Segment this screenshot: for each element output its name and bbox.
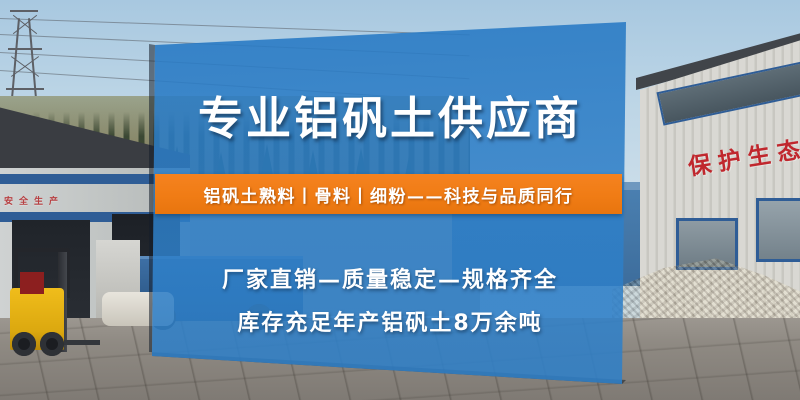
ribbon-text: 铝矾土熟料丨骨料丨细粉——科技与品质同行 — [204, 182, 574, 207]
subline-1: 厂家直销—质量稳定—规格齐全 — [155, 262, 625, 294]
banner-image: 保护生态 安全生产 — [0, 0, 800, 400]
orange-ribbon: 铝矾土熟料丨骨料丨细粉——科技与品质同行 — [155, 174, 622, 214]
subline-2: 库存充足年产铝矾土8万余吨 — [155, 305, 625, 337]
banner-text-content: 专业铝矾土供应商 铝矾土熟料丨骨料丨细粉——科技与品质同行 厂家直销—质量稳定—… — [0, 0, 800, 400]
headline: 专业铝矾土供应商 — [155, 82, 625, 147]
